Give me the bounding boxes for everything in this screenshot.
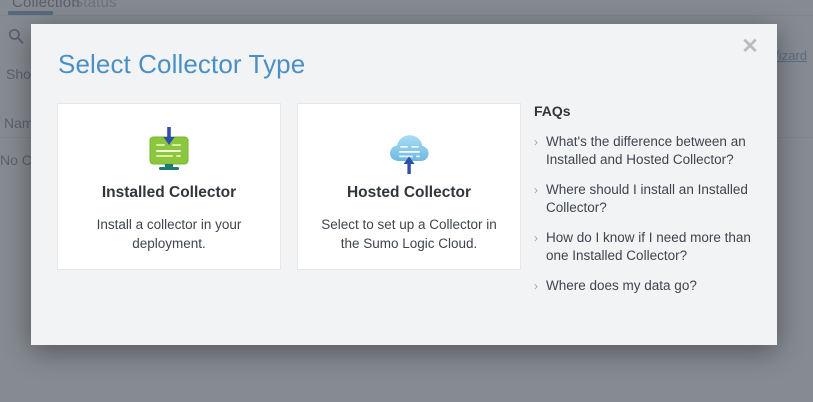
faq-panel: FAQs › What's the difference between an … [534,103,762,307]
select-collector-type-dialog: ✕ Select Collector Type [31,24,777,345]
hosted-collector-card[interactable]: Hosted Collector Select to set up a Coll… [297,103,521,270]
page-root: Collection Status Search Setup Wizard Sh… [0,0,813,402]
hosted-collector-description: Select to set up a Collector in the Sumo… [320,215,498,253]
monitor-download-icon [144,124,194,182]
chevron-right-icon: › [534,181,546,199]
faq-item[interactable]: › How do I know if I need more than one … [534,229,762,265]
chevron-right-icon: › [534,229,546,247]
faq-title: FAQs [534,103,762,119]
chevron-right-icon: › [534,133,546,151]
cloud-upload-icon [384,124,434,182]
collector-type-options: Installed Collector Install a collector … [57,103,521,270]
installed-collector-title: Installed Collector [102,184,236,202]
installed-collector-card[interactable]: Installed Collector Install a collector … [57,103,281,270]
faq-item-label: How do I know if I need more than one In… [546,229,762,265]
dialog-title: Select Collector Type [58,49,305,80]
faq-item[interactable]: › Where should I install an Installed Co… [534,181,762,217]
installed-collector-description: Install a collector in your deployment. [80,215,258,253]
faq-item-label: What's the difference between an Install… [546,133,762,169]
faq-item-label: Where should I install an Installed Coll… [546,181,762,217]
hosted-collector-title: Hosted Collector [347,184,471,202]
faq-item-label: Where does my data go? [546,277,697,295]
chevron-right-icon: › [534,277,546,295]
faq-item[interactable]: › Where does my data go? [534,277,762,295]
faq-item[interactable]: › What's the difference between an Insta… [534,133,762,169]
close-icon[interactable]: ✕ [737,34,763,60]
